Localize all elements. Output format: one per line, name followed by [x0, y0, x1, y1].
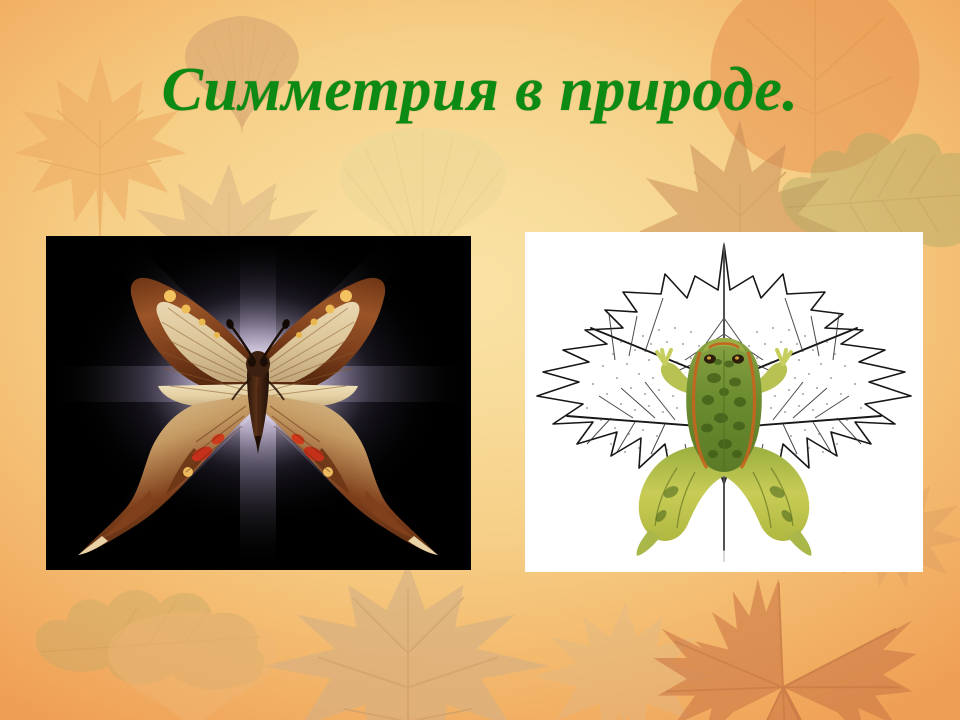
frog-on-maple-leaf-photo: [525, 232, 923, 572]
ginkgo-leaf-bottom-left: [88, 602, 298, 720]
page-title: Симметрия в природе.: [0, 58, 960, 123]
oak-leaf-bottom-center: [30, 570, 290, 700]
maple-leaf-bottom-right: [640, 566, 930, 720]
maple-leaf-bottom-center: [530, 600, 720, 720]
slide-canvas: Симметрия в природе.: [0, 0, 960, 720]
maple-leaf-bottom-left: [258, 556, 558, 720]
butterfly-symmetry-photo: [46, 236, 471, 570]
